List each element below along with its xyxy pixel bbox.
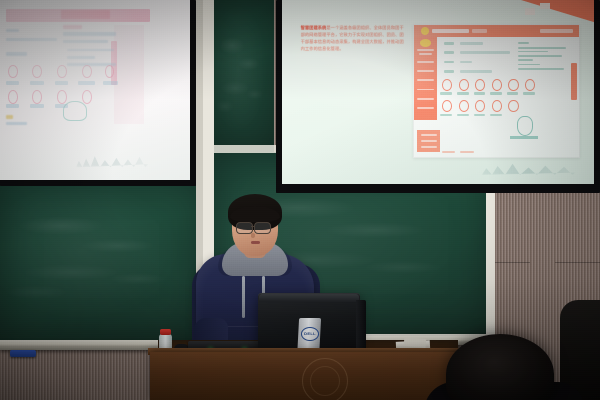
left-screen-surface bbox=[0, 0, 190, 180]
grid-icon bbox=[32, 90, 42, 104]
form-value bbox=[460, 51, 510, 54]
grid-icon bbox=[492, 79, 502, 91]
dashboard-header-title bbox=[61, 10, 110, 18]
dashboard-vertical-tab bbox=[571, 63, 577, 100]
right-screen-surface: 智慧团建系统是一个涵盖各级团组织、全体团员和团干部的网络管理平台，它致力于实现对… bbox=[282, 0, 594, 184]
corner-accent-square bbox=[525, 8, 535, 14]
right-projection-screen: 智慧团建系统是一个涵盖各级团组织、全体团员和团干部的网络管理平台，它致力于实现对… bbox=[276, 0, 600, 193]
classroom-photo: 智慧团建系统是一个涵盖各级团组织、全体团员和团干部的网络管理平台，它致力于实现对… bbox=[0, 0, 600, 400]
grid-icon bbox=[82, 65, 92, 79]
dashboard-footer-line bbox=[460, 151, 473, 154]
grid-icon bbox=[32, 65, 42, 79]
dell-logo-icon: DELL bbox=[301, 327, 319, 341]
dashboard-footer-line bbox=[6, 122, 27, 125]
glasses-icon bbox=[254, 222, 271, 234]
panel-line bbox=[518, 59, 533, 61]
grid-icon bbox=[8, 65, 18, 79]
grid-icon bbox=[8, 90, 18, 104]
grid-icon bbox=[475, 79, 485, 91]
grid-icon bbox=[459, 79, 469, 91]
shield-icon bbox=[517, 116, 534, 135]
eraser bbox=[10, 350, 36, 357]
dashboard-panel-line bbox=[67, 56, 96, 59]
sidebar-item-label bbox=[421, 140, 437, 142]
form-label bbox=[444, 70, 454, 73]
user-icon bbox=[475, 100, 485, 112]
grid-icon-label bbox=[523, 92, 535, 95]
dashboard-panel-title bbox=[63, 25, 82, 29]
search-icon bbox=[82, 90, 92, 104]
grid-icon-label bbox=[490, 114, 502, 117]
status-dot bbox=[6, 115, 14, 119]
heart-icon bbox=[525, 79, 535, 91]
grid-icon-label bbox=[457, 92, 469, 95]
form-label bbox=[444, 51, 454, 54]
form-value bbox=[460, 42, 483, 45]
search-icon bbox=[508, 100, 518, 112]
dashboard-panel-line bbox=[63, 32, 116, 36]
form-value bbox=[460, 61, 472, 64]
dashboard-sidebar bbox=[414, 37, 437, 120]
grid-icon-label bbox=[103, 81, 118, 85]
grid-icon-label bbox=[440, 92, 452, 95]
dashboard-right-panel bbox=[114, 25, 144, 124]
avatar bbox=[420, 39, 431, 47]
dashboard-header-title bbox=[432, 29, 468, 33]
sidebar-item-label bbox=[417, 107, 434, 109]
dashboard-footer-line bbox=[442, 151, 455, 154]
grid-icon-label bbox=[457, 114, 469, 117]
dashboard-header-sub bbox=[472, 29, 487, 33]
water-bottle-cap bbox=[160, 329, 171, 335]
grid-icon-label bbox=[440, 114, 452, 117]
grid-icon-label bbox=[507, 92, 519, 95]
grid-icon-label bbox=[6, 104, 19, 108]
grid-icon-label bbox=[78, 81, 95, 85]
mountain-watermark bbox=[76, 151, 148, 167]
dashboard-value bbox=[6, 38, 57, 42]
panel-line bbox=[518, 55, 562, 57]
corner-accent-square bbox=[540, 3, 550, 9]
mountain-watermark bbox=[482, 160, 576, 175]
grid-icon-label bbox=[474, 114, 486, 117]
monitor-top-bevel bbox=[259, 294, 359, 302]
panel-line bbox=[518, 64, 540, 66]
dashboard-header-user bbox=[540, 29, 573, 33]
sidebar-item-label bbox=[421, 146, 437, 148]
sidebar-item-label bbox=[417, 49, 434, 51]
sidebar-item-label bbox=[417, 79, 434, 81]
left-slide-content bbox=[0, 0, 190, 180]
presenter-hair-fringe bbox=[230, 206, 280, 222]
sidebar-item-label bbox=[419, 53, 432, 55]
presenter-nose bbox=[251, 233, 255, 238]
wall-seam bbox=[555, 262, 600, 263]
panel-line bbox=[518, 68, 564, 70]
hoodie-drawstring bbox=[242, 276, 245, 318]
settings-icon bbox=[492, 100, 502, 112]
grid-icon bbox=[442, 79, 452, 91]
grid-icon bbox=[508, 79, 518, 91]
papers bbox=[404, 337, 427, 348]
sidebar-item-label bbox=[417, 98, 434, 100]
edit-icon bbox=[459, 100, 469, 112]
monitor-side bbox=[356, 300, 366, 352]
grid-icon bbox=[57, 90, 67, 104]
glasses-bridge bbox=[251, 226, 254, 227]
wall-seam bbox=[490, 262, 530, 263]
dashboard-sidebar-secondary bbox=[417, 130, 440, 153]
brand-logo-icon bbox=[421, 27, 429, 35]
grid-icon-label bbox=[55, 81, 68, 85]
form-label bbox=[444, 61, 454, 64]
left-projection-screen bbox=[0, 0, 196, 186]
edit-icon bbox=[442, 100, 452, 112]
dashboard-panel-line bbox=[67, 49, 115, 52]
shield-icon bbox=[63, 101, 88, 121]
shield-caption bbox=[510, 136, 538, 139]
slide-body-text: 智慧团建系统是一个涵盖各级团组织、全体团员和团干部的网络管理平台，它致力于实现对… bbox=[301, 24, 407, 52]
dell-logo-text: DELL bbox=[302, 331, 318, 336]
dashboard-panel-line bbox=[63, 40, 109, 44]
form-label bbox=[444, 42, 454, 45]
grid-icon-label bbox=[30, 104, 43, 108]
sidebar-item-label bbox=[417, 89, 434, 91]
presenter-mouth bbox=[251, 241, 260, 244]
panel-title bbox=[518, 42, 529, 44]
dashboard-label bbox=[6, 52, 27, 56]
chalkboard bbox=[0, 176, 203, 342]
sidebar-item-label bbox=[417, 61, 434, 63]
form-value bbox=[460, 70, 491, 73]
grid-icon-label bbox=[490, 92, 502, 95]
grid-icon bbox=[57, 65, 67, 79]
panel-line bbox=[518, 51, 548, 53]
grid-icon-label bbox=[30, 81, 43, 85]
dashboard-screenshot bbox=[413, 24, 580, 158]
sidebar-item-label bbox=[421, 134, 437, 136]
school-emblem-icon bbox=[302, 358, 348, 400]
grid-icon-label bbox=[6, 81, 19, 85]
slide-heading: 智慧团建系统 bbox=[301, 25, 327, 30]
sidebar-item-label bbox=[417, 70, 434, 72]
dashboard-info-panel bbox=[518, 42, 568, 79]
panel-line bbox=[518, 47, 566, 49]
right-slide-content: 智慧团建系统是一个涵盖各级团组织、全体团员和团干部的网络管理平台，它致力于实现对… bbox=[282, 0, 594, 184]
chalkboard bbox=[214, 0, 274, 152]
grid-icon-label bbox=[474, 92, 486, 95]
glasses-icon bbox=[236, 222, 253, 234]
dashboard-label bbox=[6, 29, 19, 33]
